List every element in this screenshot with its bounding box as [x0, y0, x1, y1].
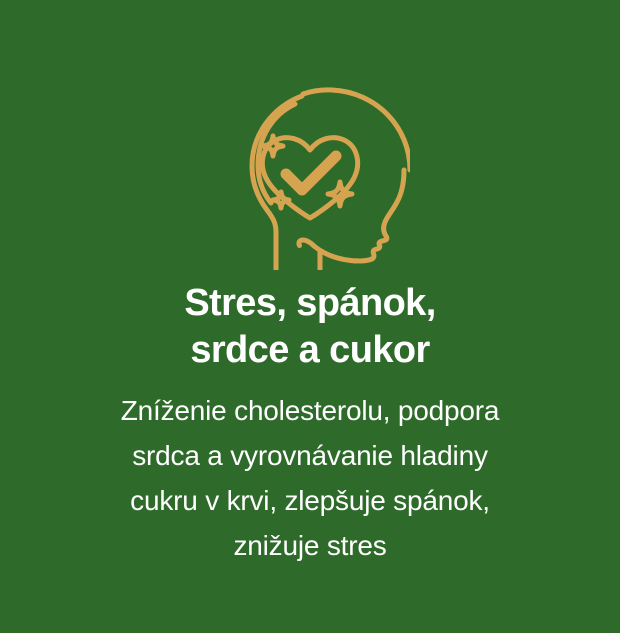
description-line-1: Zníženie cholesterolu, podpora — [0, 388, 620, 433]
title-line-1: Stres, spánok, — [0, 280, 620, 327]
description-line-3: cukru v krvi, zlepšuje spánok, — [0, 478, 620, 523]
head-heart-checkmark-icon — [210, 70, 410, 270]
page-title: Stres, spánok, srdce a cukor — [0, 280, 620, 374]
description-text: Zníženie cholesterolu, podpora srdca a v… — [0, 388, 620, 568]
benefit-card: Stres, spánok, srdce a cukor Zníženie ch… — [0, 0, 620, 633]
title-line-2: srdce a cukor — [0, 327, 620, 374]
description-line-2: srdca a vyrovnávanie hladiny — [0, 433, 620, 478]
description-line-4: znižuje stres — [0, 523, 620, 568]
